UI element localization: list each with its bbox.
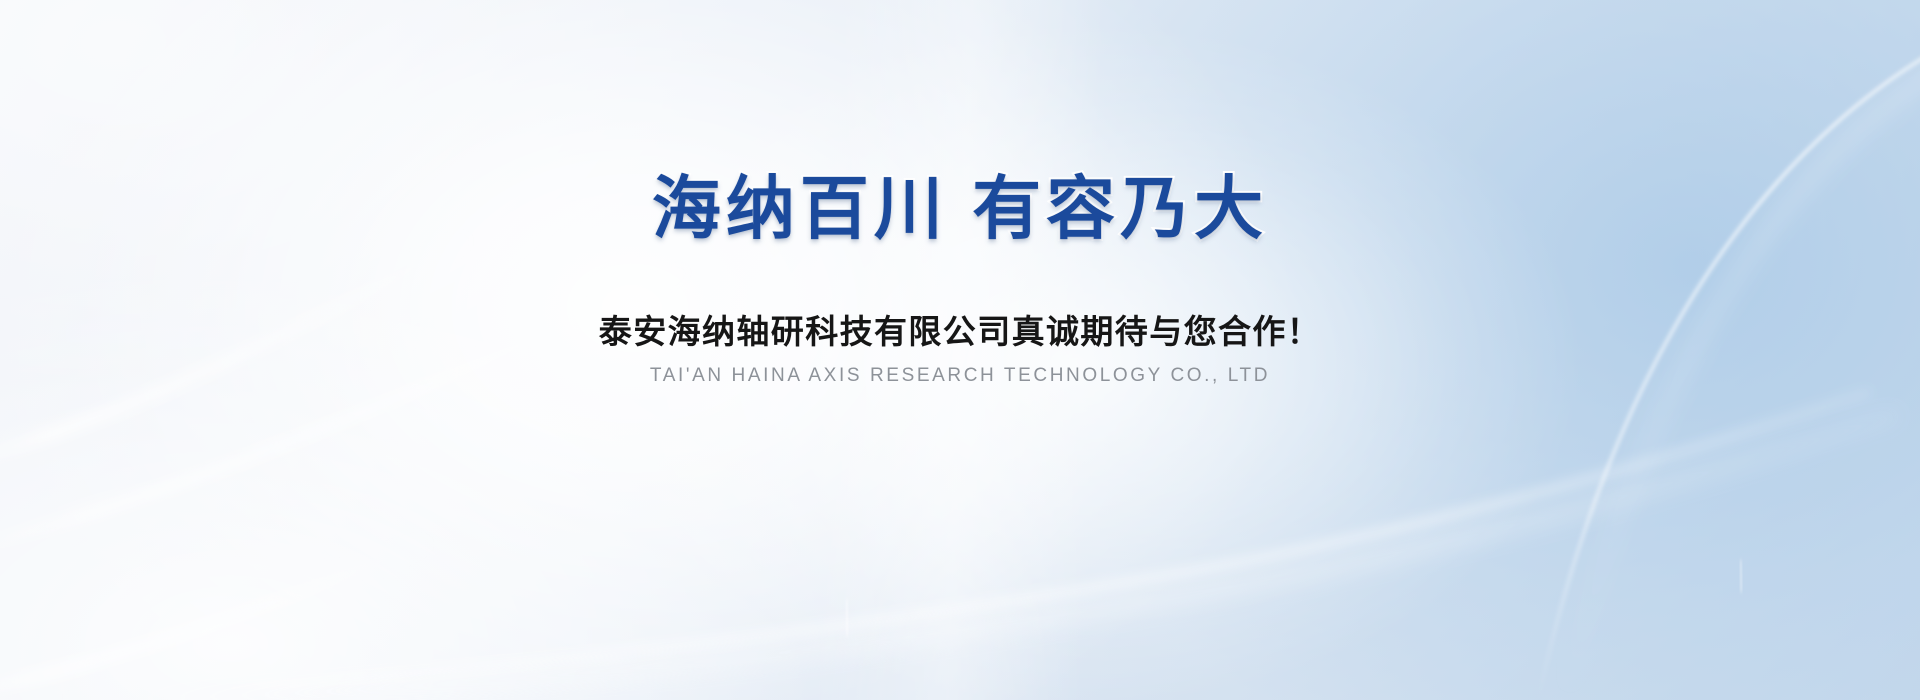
banner-subtitle-chinese: 泰安海纳轴研科技有限公司真诚期待与您合作！ bbox=[0, 310, 1920, 354]
hero-banner: 海纳百川 有容乃大 泰安海纳轴研科技有限公司真诚期待与您合作！ TAI'AN H… bbox=[0, 0, 1920, 700]
banner-headline: 海纳百川 有容乃大 bbox=[0, 167, 1920, 251]
banner-content: 海纳百川 有容乃大 泰安海纳轴研科技有限公司真诚期待与您合作！ TAI'AN H… bbox=[0, 0, 1920, 700]
banner-subtitle-english: TAI'AN HAINA AXIS RESEARCH TECHNOLOGY CO… bbox=[0, 363, 1920, 389]
